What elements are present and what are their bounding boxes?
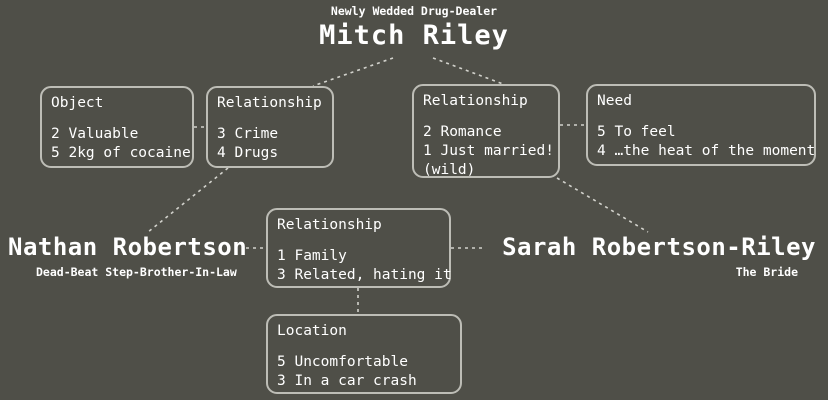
aspect-spacer (597, 110, 805, 123)
aspect-spacer (277, 234, 440, 247)
aspect-text: Crime (234, 126, 278, 142)
aspect-row-list: 5 To feel4 …the heat of the moment (597, 123, 805, 161)
aspect-box-title: Relationship (423, 92, 549, 110)
aspect-spacer (51, 112, 183, 125)
connector-romance-to-sarah (557, 178, 648, 232)
aspect-rank: 5 (597, 124, 614, 140)
aspect-row: 3 Related, hating it (277, 266, 440, 285)
aspect-spacer (423, 110, 549, 123)
aspect-box-romance[interactable]: Relationship 2 Romance1 Just married!(wi… (412, 84, 560, 178)
aspect-text: Valuable (68, 126, 138, 142)
aspect-row: (wild) (423, 161, 549, 180)
character-sarah-robertson-riley[interactable]: Sarah Robertson-Riley The Bride (502, 234, 816, 279)
aspect-box-object[interactable]: Object 2 Valuable5 2kg of cocaine (40, 86, 194, 168)
character-subtitle: Dead-Beat Step-Brother-In-Law (8, 265, 247, 279)
aspect-rank: 3 (277, 267, 294, 283)
aspect-row: 5 To feel (597, 123, 805, 142)
character-name: Sarah Robertson-Riley (502, 234, 816, 260)
aspect-text: …the heat of the moment (614, 143, 815, 159)
aspect-box-location[interactable]: Location 5 Uncomfortable3 In a car crash (266, 314, 462, 394)
aspect-box-title: Need (597, 92, 805, 110)
aspect-box-title: Relationship (217, 94, 323, 112)
aspect-row: 5 Uncomfortable (277, 353, 451, 372)
connector-crime-to-nathan (148, 168, 228, 232)
aspect-row-list: 5 Uncomfortable3 In a car crash (277, 353, 451, 391)
aspect-row: 4 …the heat of the moment (597, 142, 805, 161)
character-subtitle: The Bride (502, 265, 816, 279)
aspect-box-title: Relationship (277, 216, 440, 234)
aspect-row-list: 1 Family3 Related, hating it (277, 247, 440, 285)
aspect-rank: 2 (51, 126, 68, 142)
aspect-row: 5 2kg of cocaine (51, 144, 183, 163)
aspect-row: 1 Family (277, 247, 440, 266)
character-subtitle: Newly Wedded Drug-Dealer (0, 4, 828, 18)
aspect-text: Just married! (440, 143, 554, 159)
aspect-text: Drugs (234, 145, 278, 161)
aspect-rank: 5 (51, 145, 68, 161)
aspect-rank: 2 (423, 124, 440, 140)
aspect-row: 3 In a car crash (277, 372, 451, 391)
aspect-rank: 4 (217, 145, 234, 161)
aspect-row-list: 3 Crime4 Drugs (217, 125, 323, 163)
aspect-rank: 4 (597, 143, 614, 159)
character-name: Mitch Riley (0, 21, 828, 51)
aspect-text: 2kg of cocaine (68, 145, 190, 161)
aspect-rank: 3 (277, 373, 294, 389)
aspect-text: (wild) (423, 162, 475, 178)
aspect-text: To feel (614, 124, 675, 140)
aspect-text: Uncomfortable (294, 354, 408, 370)
aspect-text: Family (294, 248, 346, 264)
aspect-row: 4 Drugs (217, 144, 323, 163)
aspect-text: Related, hating it (294, 267, 451, 283)
aspect-row: 1 Just married! (423, 142, 549, 161)
character-name: Nathan Robertson (8, 234, 247, 260)
aspect-row: 3 Crime (217, 125, 323, 144)
relationship-map-canvas: Newly Wedded Drug-Dealer Mitch Riley Nat… (0, 0, 828, 400)
character-mitch-riley[interactable]: Newly Wedded Drug-Dealer Mitch Riley (0, 4, 828, 51)
connector-mitch-to-romance (433, 58, 503, 84)
aspect-text: In a car crash (294, 373, 416, 389)
aspect-rank: 1 (423, 143, 440, 159)
aspect-rank: 3 (217, 126, 234, 142)
aspect-box-title: Location (277, 322, 451, 340)
aspect-row: 2 Valuable (51, 125, 183, 144)
connector-mitch-to-crime (313, 58, 393, 86)
aspect-row: 2 Romance (423, 123, 549, 142)
aspect-box-crime[interactable]: Relationship 3 Crime4 Drugs (206, 86, 334, 168)
aspect-rank: 5 (277, 354, 294, 370)
aspect-spacer (217, 112, 323, 125)
aspect-spacer (277, 340, 451, 353)
aspect-box-need[interactable]: Need 5 To feel4 …the heat of the moment (586, 84, 816, 166)
character-nathan-robertson[interactable]: Nathan Robertson Dead-Beat Step-Brother-… (8, 234, 247, 279)
aspect-rank: 1 (277, 248, 294, 264)
aspect-box-title: Object (51, 94, 183, 112)
aspect-box-family[interactable]: Relationship 1 Family3 Related, hating i… (266, 208, 451, 288)
aspect-row-list: 2 Valuable5 2kg of cocaine (51, 125, 183, 163)
aspect-row-list: 2 Romance1 Just married!(wild) (423, 123, 549, 180)
aspect-text: Romance (440, 124, 501, 140)
